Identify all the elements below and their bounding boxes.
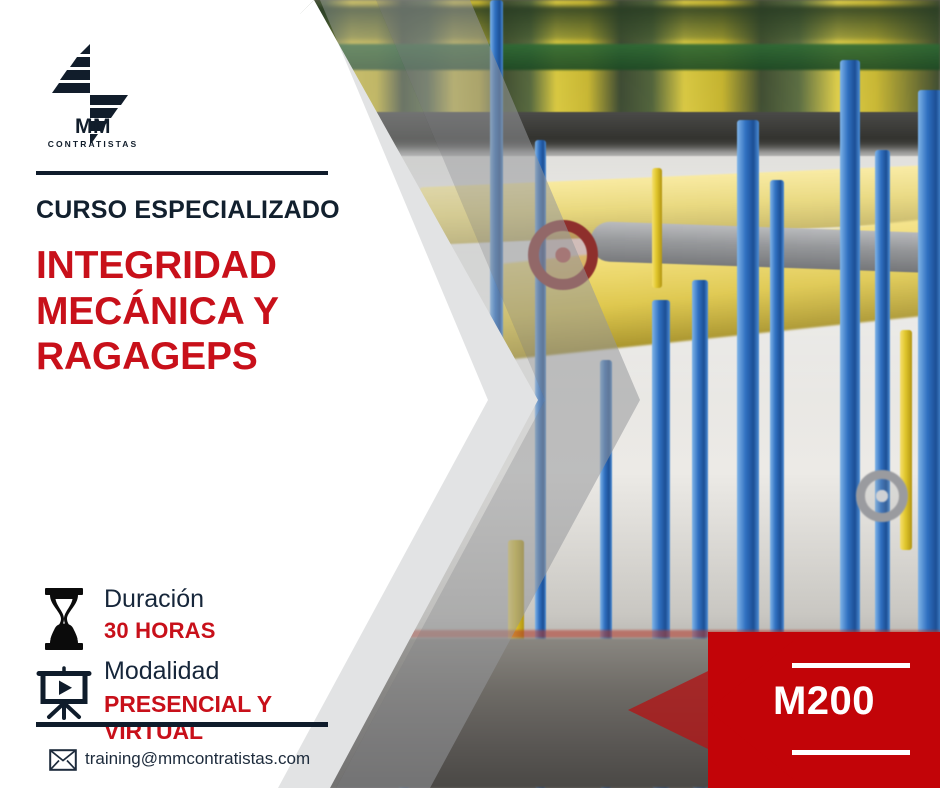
photo-yellow-pipe xyxy=(652,168,662,288)
badge-rule-top xyxy=(792,663,910,668)
modality-value: PRESENCIAL Y VIRTUAL xyxy=(104,691,340,745)
projector-screen-play-icon xyxy=(36,665,92,721)
left-content-panel: MM CONTRATISTAS CURSO ESPECIALIZADO INTE… xyxy=(0,0,340,788)
email-link[interactable]: training@mmcontratistas.com xyxy=(85,749,310,769)
page-title: INTEGRIDAD MECÁNICA Y RAGAGEPS xyxy=(36,243,336,380)
divider-top xyxy=(36,171,328,175)
brand-name: MM xyxy=(50,116,136,137)
photo-upper-shadow xyxy=(300,6,940,40)
photo-grey-valve-wheel xyxy=(856,470,908,522)
duration-label: Duración xyxy=(104,585,204,614)
course-code: M200 xyxy=(708,679,940,724)
course-poster: MM CONTRATISTAS CURSO ESPECIALIZADO INTE… xyxy=(0,0,940,788)
modality-label: Modalidad xyxy=(104,657,219,686)
brand-tagline: CONTRATISTAS xyxy=(40,139,146,149)
photo-blue-pipe xyxy=(490,0,503,360)
photo-yellow-pipe xyxy=(900,330,912,550)
envelope-icon xyxy=(49,749,77,771)
photo-red-valve-wheel xyxy=(528,220,598,290)
duration-value: 30 HORAS xyxy=(104,618,216,644)
divider-bottom xyxy=(36,722,328,727)
course-kicker: CURSO ESPECIALIZADO xyxy=(36,196,340,225)
badge-rule-bottom xyxy=(792,750,910,755)
hourglass-icon xyxy=(42,588,86,650)
